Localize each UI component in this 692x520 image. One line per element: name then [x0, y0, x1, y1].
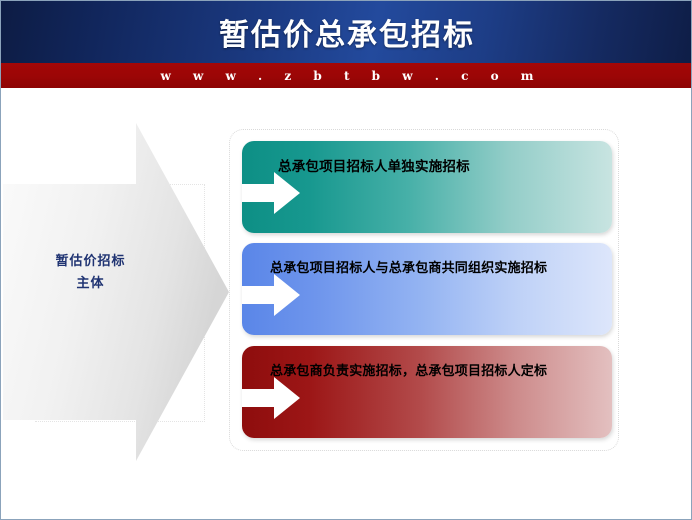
site-url-text: w w w . z b t b w . c o m — [152, 69, 543, 83]
item-box-2[interactable]: 总承包项目招标人与总承包商共同组织实施招标 — [242, 243, 612, 335]
item-label-1: 总承包项目招标人单独实施招标 — [278, 155, 606, 175]
item-label-2: 总承包项目招标人与总承包商共同组织实施招标 — [270, 257, 606, 276]
block-arrow-label-line2: 主体 — [13, 273, 168, 295]
page-title: 暂估价总承包招标 — [1, 1, 692, 63]
block-arrow-label: 暂估价招标 主体 — [13, 251, 168, 295]
right-arrow-icon — [242, 377, 300, 419]
header-url-bar: w w w . z b t b w . c o m — [1, 63, 692, 88]
right-arrow-icon — [242, 172, 300, 214]
right-arrow-icon — [242, 274, 300, 316]
item-box-3[interactable]: 总承包商负责实施招标，总承包项目招标人定标 — [242, 346, 612, 438]
block-arrow-label-line1: 暂估价招标 — [13, 251, 168, 273]
item-box-1[interactable]: 总承包项目招标人单独实施招标 — [242, 141, 612, 233]
slide-canvas: 暂估价总承包招标 w w w . z b t b w . c o m 暂估价招标… — [0, 0, 692, 520]
item-label-3: 总承包商负责实施招标，总承包项目招标人定标 — [270, 360, 606, 379]
